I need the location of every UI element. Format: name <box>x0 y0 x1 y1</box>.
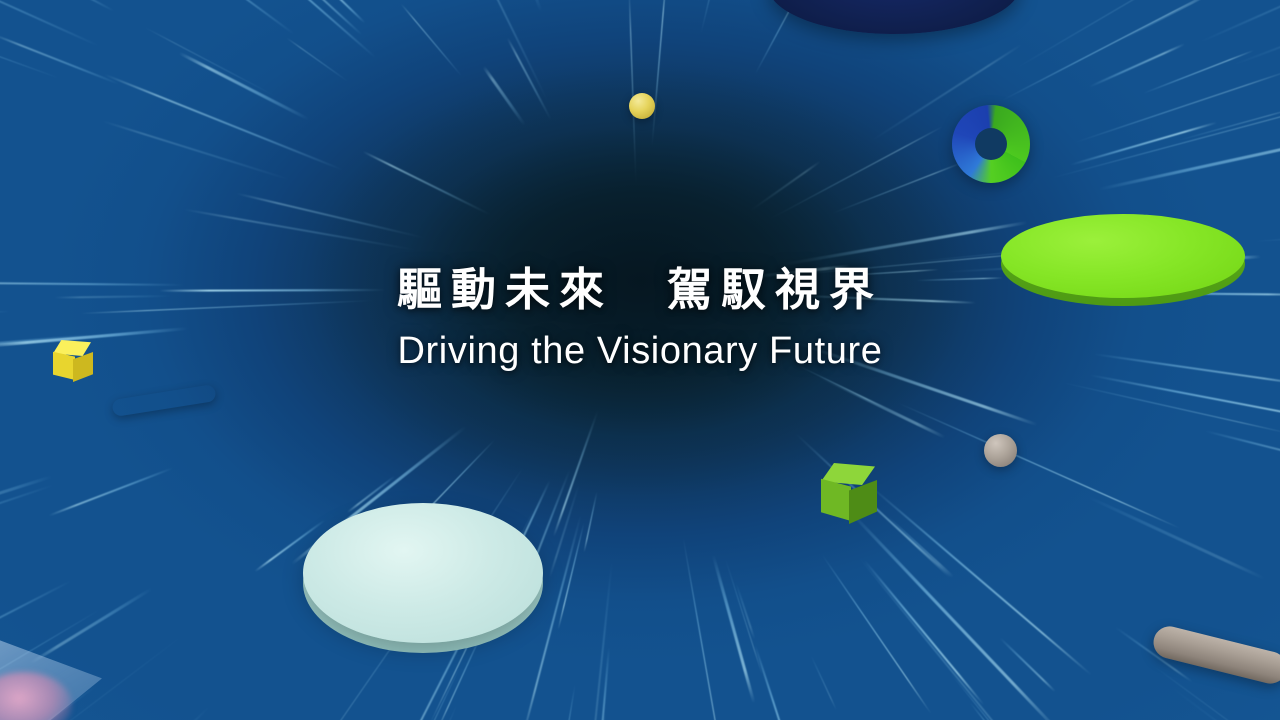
title-card-scene: 驅動未來 駕馭視界 Driving the Visionary Future <box>0 0 1280 720</box>
title-block: 驅動未來 駕馭視界 Driving the Visionary Future <box>0 262 1280 373</box>
blue-green-donut-ring-icon <box>952 105 1030 183</box>
green-cube-icon <box>821 463 883 525</box>
headline-english: Driving the Visionary Future <box>0 329 1280 373</box>
yellow-sphere-icon <box>629 93 655 119</box>
dark-navy-disc-top-icon <box>768 0 1020 34</box>
mint-disc-bottom-left-icon <box>303 503 543 655</box>
taupe-sphere-icon <box>984 434 1017 467</box>
headline-chinese: 驅動未來 駕馭視界 <box>0 262 1280 318</box>
